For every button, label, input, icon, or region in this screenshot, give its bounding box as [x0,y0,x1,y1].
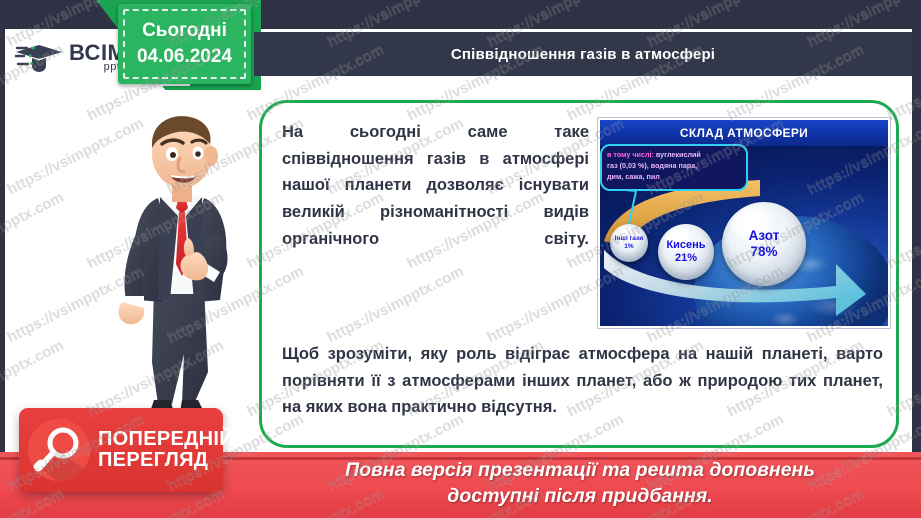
bubble-oxygen-label: Кисень [666,239,705,252]
callout-line-1-rest: вуглекислий [656,150,701,159]
callout-line-1: в тому числі: вуглекислий [607,150,741,161]
callout-line-3: дим, сажа, пил [607,172,741,183]
bubble-other-gases-label: Інші гази [615,235,643,243]
bubble-oxygen: Кисень 21% [658,224,714,280]
preview-badge[interactable]: ПОПЕРЕДНІЙ ПЕРЕГЛЯД [19,408,223,492]
paragraph-1: На сьогодні саме таке співвідношення газ… [282,119,589,253]
date-badge: Сьогодні 04.06.2024 [118,4,251,84]
graduation-cap-icon [15,41,67,75]
page-title: Співвідношення газів в атмосфері [451,46,715,63]
callout-lead: в тому числі: [607,150,654,159]
date-badge-value: 04.06.2024 [137,44,232,70]
diagram-title: СКЛАД АТМОСФЕРИ [680,126,808,140]
bubble-other-gases: Інші гази 1% [610,224,648,262]
preview-badge-line-1: ПОПЕРЕДНІЙ [98,429,234,450]
magnifier-icon [28,419,90,481]
bubble-nitrogen-value: 78% [750,244,777,260]
bubble-nitrogen-label: Азот [749,228,780,244]
callout-line-2: газ (0,03 %), водяна пара, [607,161,741,172]
businessman-mascot-illustration [108,104,258,424]
purchase-banner-line-1: Повна версія презентації та решта доповн… [260,458,900,484]
bubble-oxygen-value: 21% [675,252,697,265]
paragraph-2: Щоб зрозуміти, яку роль відіграє атмосфе… [282,341,883,421]
purchase-banner-text: Повна версія презентації та решта доповн… [260,458,900,509]
date-badge-label: Сьогодні [142,18,227,44]
slide-root: ВСІМ pptx Сьогодні 04.06.2024 Співвіднош… [0,0,921,518]
bubble-nitrogen: Азот 78% [722,202,806,286]
preview-badge-labels: ПОПЕРЕДНІЙ ПЕРЕГЛЯД [98,429,234,471]
purchase-banner-line-2: доступні після придбання. [260,484,900,510]
slide-title-bar: Співвідношення газів в атмосфері [254,32,912,76]
bubble-other-gases-value: 1% [624,243,633,251]
preview-badge-line-2: ПЕРЕГЛЯД [98,450,234,471]
callout-box: в тому числі: вуглекислий газ (0,03 %), … [600,144,748,191]
atmosphere-composition-diagram: СКЛАД АТМОСФЕРИ [598,118,890,328]
diagram-title-bar: СКЛАД АТМОСФЕРИ [600,120,888,146]
